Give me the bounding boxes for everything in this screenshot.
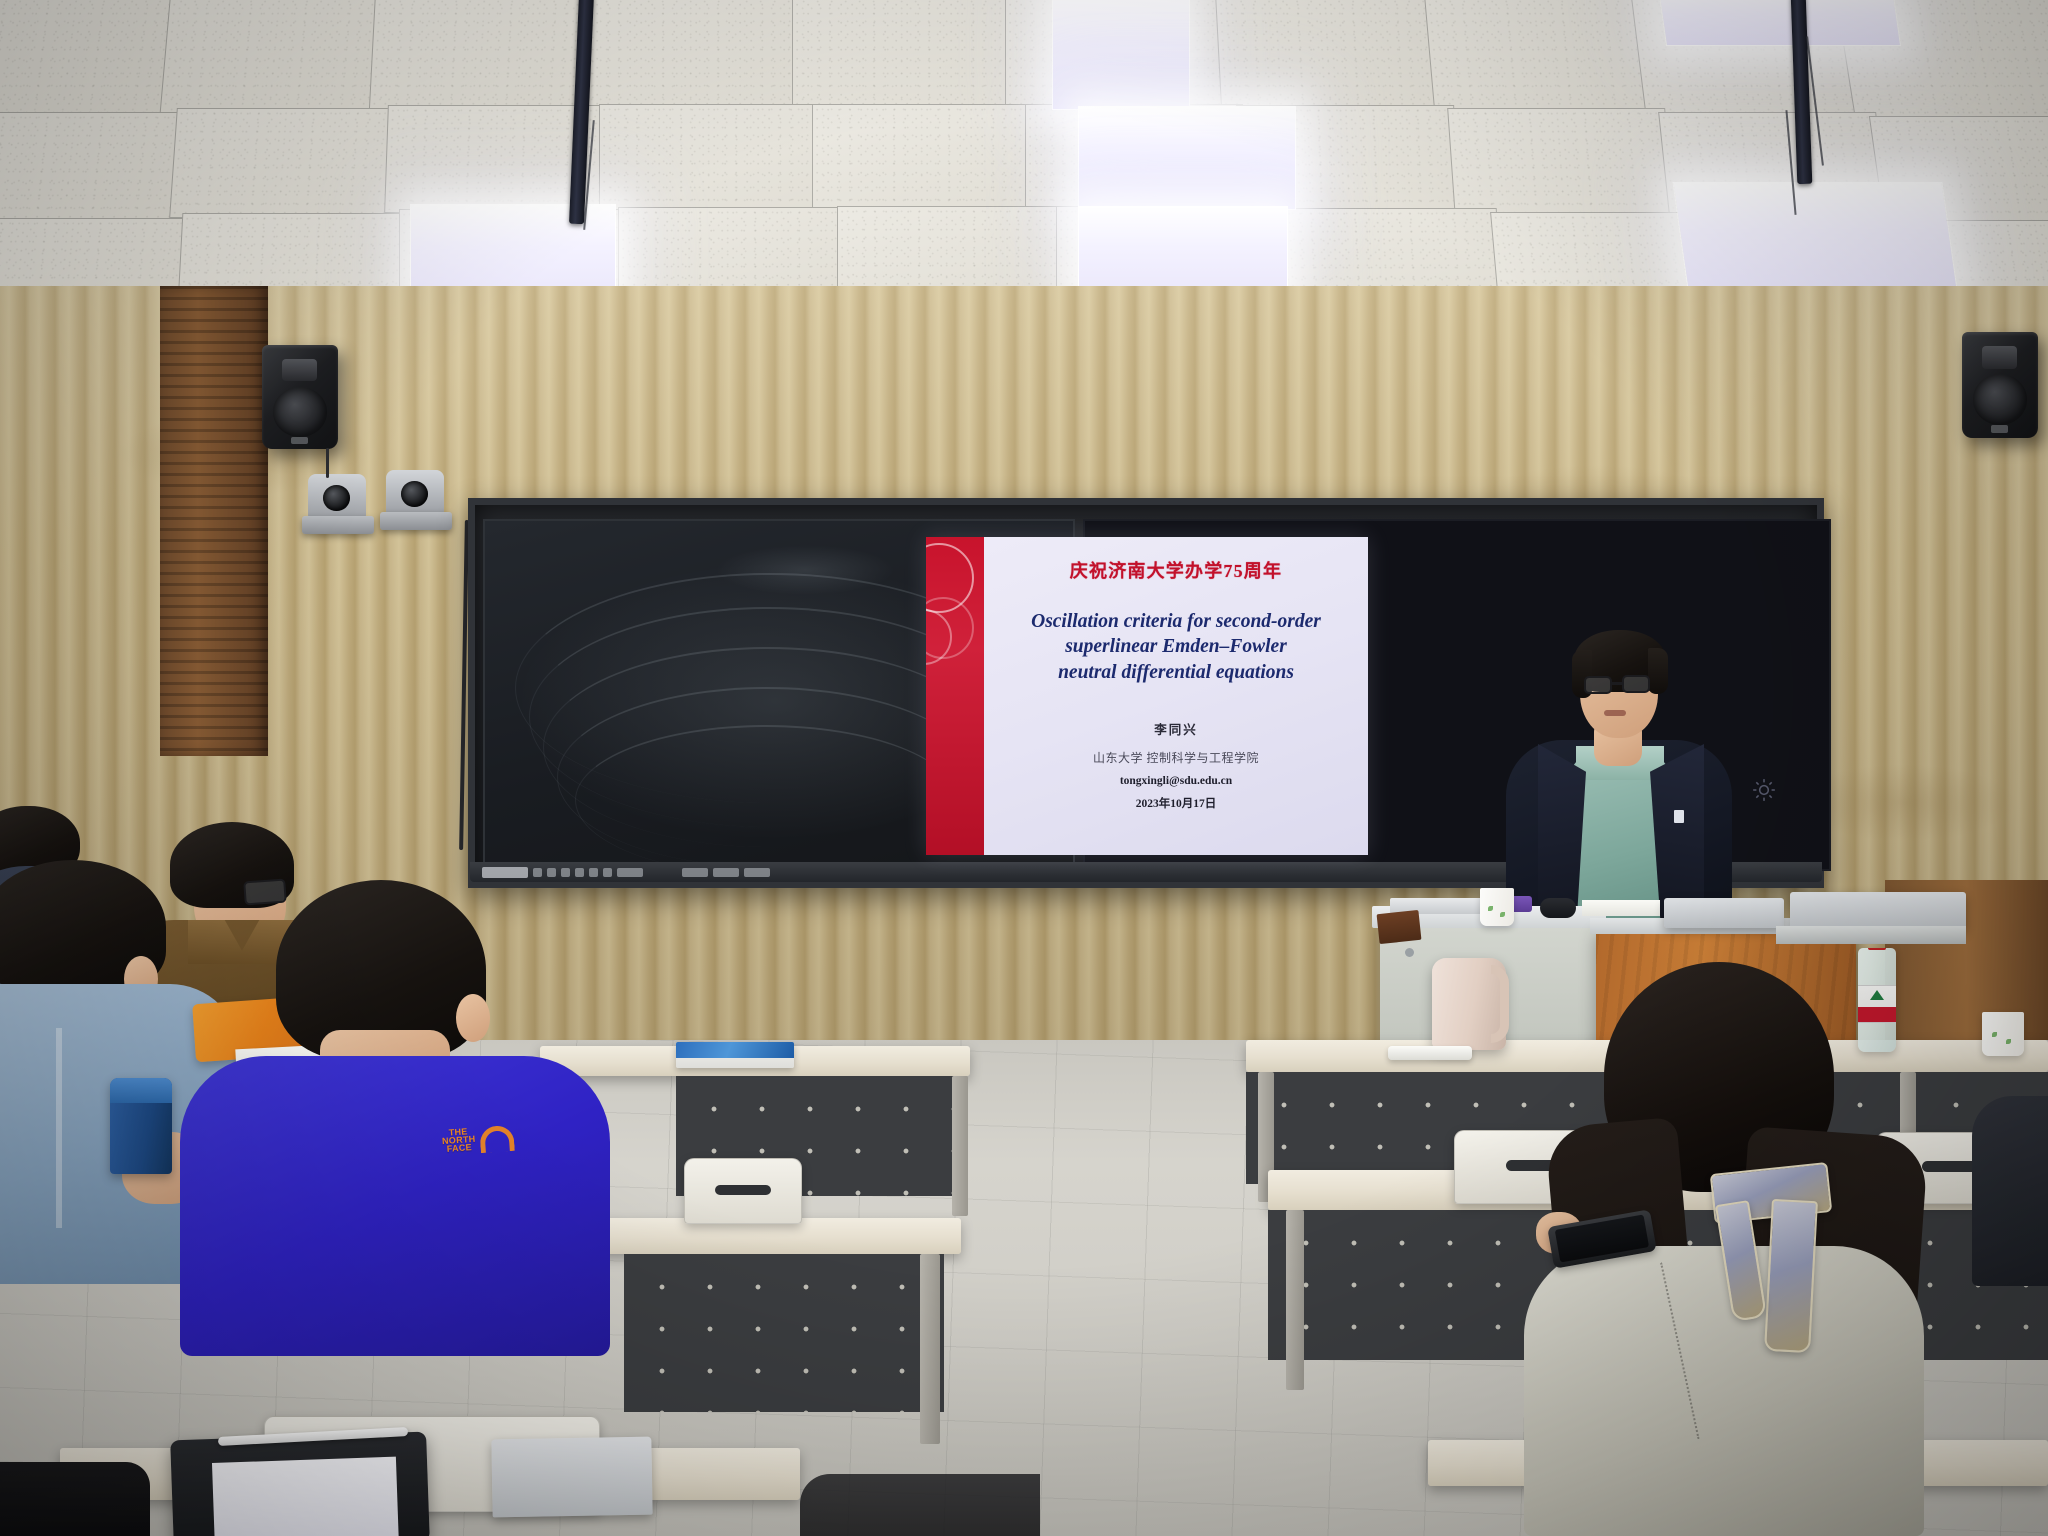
booklet-cover <box>676 1042 794 1058</box>
slide-title-line-1: Oscillation criteria for second-order <box>998 609 1354 634</box>
ceiling-light-panel <box>1052 0 1190 110</box>
presenter-glasses-bridge <box>1611 682 1623 685</box>
ceiling-tile <box>1424 0 1649 114</box>
ceiling-tile <box>0 112 184 224</box>
wall-speaker-right <box>1962 332 2038 438</box>
ceiling-tile <box>0 0 178 118</box>
open-laptop[interactable] <box>491 1437 652 1518</box>
speaker-woofer <box>1973 374 2028 425</box>
control-port <box>682 868 708 877</box>
camera-lens-icon <box>401 481 428 507</box>
ceiling-light-panel <box>1658 0 1901 46</box>
camera-mount-arm <box>302 516 374 534</box>
av-cable <box>326 448 329 478</box>
ceiling-tile <box>1215 0 1437 110</box>
control-button[interactable] <box>561 868 570 877</box>
console-lock <box>1405 948 1414 957</box>
tablet-with-case[interactable] <box>170 1432 430 1536</box>
blue-thermos <box>110 1078 172 1174</box>
slide-title-block: Oscillation criteria for second-order su… <box>998 609 1354 685</box>
attendee-north-face: THE NORTH FACE <box>180 880 620 1350</box>
ceiling-tile <box>0 218 188 292</box>
ceiling-tile <box>1447 108 1673 218</box>
speaker-tweeter <box>1982 346 2017 369</box>
ceiling-tile <box>581 0 797 108</box>
slide-red-sidebar <box>926 537 984 855</box>
cup-leaf-decor <box>2006 1039 2011 1044</box>
slide-content: 庆祝济南大学办学75周年 Oscillation criteria for se… <box>984 537 1368 855</box>
ptz-camera-icon <box>308 474 366 520</box>
slide-date: 2023年10月17日 <box>998 795 1354 811</box>
ceiling-tile <box>178 213 407 292</box>
thermos-lid <box>110 1078 172 1103</box>
presenter-glasses-right-lens <box>1622 675 1650 693</box>
wall-speaker-left <box>262 345 338 449</box>
chalk-smudge <box>715 545 895 595</box>
presentation-remote[interactable] <box>1388 1046 1472 1060</box>
lecture-hall-photo: 庆祝济南大学办学75周年 Oscillation criteria for se… <box>0 0 2048 1536</box>
north-face-tee <box>180 1056 610 1356</box>
control-port <box>713 868 739 877</box>
slide-author: 李同兴 <box>998 719 1354 738</box>
speaker-brand-chip <box>1991 425 2008 432</box>
control-port <box>744 868 770 877</box>
slide-title-line-3: neutral differential equations <box>998 660 1354 685</box>
ptz-camera-icon <box>386 470 444 516</box>
cup-leaf-decor <box>1500 912 1505 917</box>
speaker-brand-chip <box>291 437 308 444</box>
bottle-cap <box>1868 948 1886 950</box>
ceiling <box>0 0 2048 292</box>
control-button[interactable] <box>482 867 528 878</box>
paper-cup-console <box>1480 888 1514 926</box>
attendee-right-edge <box>1972 1096 2048 1276</box>
ptz-camera-rig <box>380 466 452 530</box>
ceiling-tile <box>369 0 589 110</box>
electric-kettle <box>1432 958 1506 1050</box>
hair-scarf-tail <box>1764 1199 1818 1353</box>
presenter <box>1498 612 1738 932</box>
paper-cup-desk <box>1982 1012 2024 1056</box>
console-side-rack <box>1377 910 1422 944</box>
slide-affiliation: 山东大学 控制科学与工程学院 <box>998 749 1354 766</box>
cup-leaf-decor <box>1992 1032 1997 1037</box>
ceiling-light-panel <box>1078 206 1288 292</box>
camera-mount-arm <box>380 512 452 530</box>
conference-booklet <box>676 1042 794 1068</box>
nf-line-3: FACE <box>446 1142 472 1154</box>
presentation-slide: 庆祝济南大学办学75周年 Oscillation criteria for se… <box>926 537 1368 855</box>
ceiling-tile <box>160 0 383 114</box>
desk-leg <box>1286 1210 1304 1390</box>
control-button[interactable] <box>533 868 542 877</box>
foreground-shadow <box>800 1474 1040 1536</box>
control-button[interactable] <box>603 868 612 877</box>
presenter-hair-side <box>1648 648 1668 694</box>
desk-leg <box>952 1076 968 1216</box>
attendee-ear <box>456 994 490 1042</box>
cup-leaf-decor <box>1488 906 1493 911</box>
ceiling-light-panel <box>1078 106 1296 210</box>
control-button[interactable] <box>589 868 598 877</box>
north-face-logo: THE NORTH FACE <box>441 1127 476 1153</box>
control-button[interactable] <box>617 868 643 877</box>
presenter-mouth <box>1604 710 1626 716</box>
ceiling-tile <box>792 0 1010 108</box>
chair-back <box>684 1158 802 1224</box>
slide-chinese-banner: 庆祝济南大学办学75周年 <box>998 557 1354 583</box>
console-mouse[interactable] <box>1540 898 1576 918</box>
console-paper <box>1582 900 1660 916</box>
ceiling-tile <box>599 104 817 210</box>
speaker-tweeter <box>282 359 317 382</box>
camera-lens-icon <box>323 485 350 511</box>
monitor-left <box>1664 898 1784 928</box>
ceiling-tile <box>618 207 842 292</box>
control-button[interactable] <box>575 868 584 877</box>
wall-dark-column <box>160 286 268 756</box>
foreground-shadow <box>0 1462 150 1536</box>
podium-shelf <box>1776 926 1966 944</box>
ceiling-tile <box>837 206 1061 292</box>
chair-handle-slot <box>715 1185 771 1195</box>
speaker-woofer <box>273 387 328 437</box>
ceiling-light-panel <box>1672 182 1957 290</box>
monitor-right <box>1790 892 1966 930</box>
control-button[interactable] <box>547 868 556 877</box>
ceiling-tile <box>169 108 395 218</box>
ptz-camera-rig <box>302 470 374 534</box>
attendee-top <box>1972 1096 2048 1286</box>
slide-email: tongxingli@sdu.edu.cn <box>998 775 1354 787</box>
desk-leg <box>920 1254 940 1444</box>
presenter-glasses-left-lens <box>1584 676 1612 694</box>
slide-title-line-2: superlinear Emden–Fowler <box>998 634 1354 659</box>
tablet-screen[interactable] <box>212 1457 399 1536</box>
ceiling-tile <box>812 104 1030 210</box>
chalk-arc <box>575 725 957 875</box>
ceiling-tile <box>1273 208 1502 292</box>
shirt-placket <box>56 1028 62 1228</box>
gear-icon[interactable] <box>1751 777 1777 803</box>
desk-panel-row3-left <box>624 1254 944 1412</box>
presenter-jacket-badge <box>1674 810 1684 823</box>
